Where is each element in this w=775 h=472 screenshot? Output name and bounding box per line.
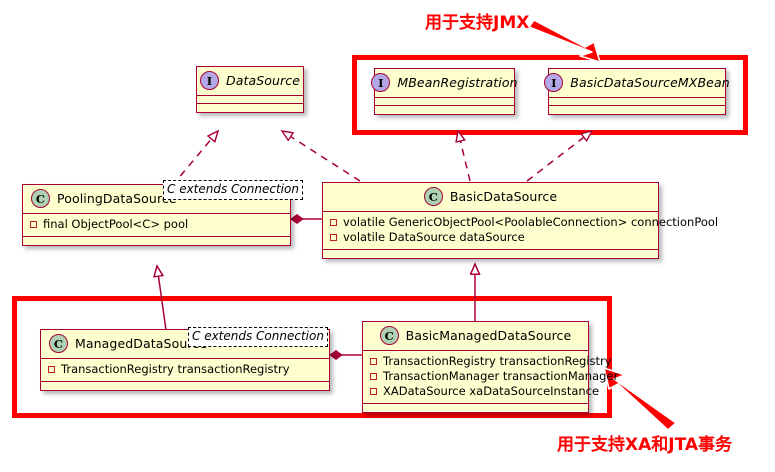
interface-icon: I: [544, 73, 563, 92]
class-box-basicdatasource[interactable]: C BasicDataSource volatile GenericObject…: [322, 182, 659, 259]
field-row: volatile GenericObjectPool<PoolableConne…: [330, 215, 651, 230]
class-icon: C: [49, 334, 68, 353]
datasource-fields: [197, 96, 303, 104]
field-row: TransactionManager transactionManager: [370, 369, 581, 384]
private-visibility-icon: [370, 388, 377, 395]
private-visibility-icon: [370, 373, 377, 380]
field-row: XADataSource xaDataSourceInstance: [370, 384, 581, 399]
basicdatasource-methods: [323, 250, 658, 258]
interface-icon: I: [371, 73, 390, 92]
mbeanregistration-name: MBeanRegistration: [397, 75, 517, 90]
basicmanageddatasource-fields: TransactionRegistry transactionRegistry …: [363, 351, 588, 404]
xa-jta-annotation-text: 用于支持XA和JTA事务: [557, 430, 732, 455]
field-row: TransactionRegistry transactionRegistry: [370, 354, 581, 369]
field-label: TransactionRegistry transactionRegistry: [61, 362, 290, 377]
manageddatasource-methods: [41, 382, 329, 390]
field-label: TransactionManager transactionManager: [383, 369, 618, 384]
basicmanageddatasource-methods: [363, 404, 588, 412]
field-row: final ObjectPool<C> pool: [30, 217, 283, 232]
generic-param-manageddatasource: C extends Connection: [188, 327, 328, 347]
generic-param-poolingdatasource: C extends Connection: [163, 180, 303, 200]
private-visibility-icon: [370, 358, 377, 365]
basicdatasource-fields: volatile GenericObjectPool<PoolableConne…: [323, 212, 658, 250]
poolingdatasource-methods: [23, 237, 290, 245]
class-icon: C: [424, 187, 443, 206]
private-visibility-icon: [48, 366, 55, 373]
basicmanageddatasource-header: C BasicManagedDataSource: [363, 322, 588, 351]
datasource-name: DataSource: [226, 73, 300, 88]
datasource-header: I DataSource: [197, 67, 303, 96]
private-visibility-icon: [30, 221, 37, 228]
poolingdatasource-fields: final ObjectPool<C> pool: [23, 214, 290, 237]
basicdatasource-name: BasicDataSource: [450, 189, 557, 204]
mbeanregistration-header: I MBeanRegistration: [375, 69, 514, 98]
field-label: TransactionRegistry transactionRegistry: [383, 354, 612, 369]
mbeanregistration-methods: [375, 106, 514, 114]
basicdatasourcemxbean-header: I BasicDataSourceMXBean: [549, 69, 725, 98]
relation-basicdatasource-mbeanregistration: [458, 131, 470, 181]
poolingdatasource-name: PoolingDataSource: [57, 191, 177, 206]
field-label: XADataSource xaDataSourceInstance: [383, 384, 599, 399]
basicdatasourcemxbean-methods: [549, 106, 725, 114]
private-visibility-icon: [330, 234, 337, 241]
mbeanregistration-fields: [375, 98, 514, 106]
class-box-mbeanregistration[interactable]: I MBeanRegistration: [374, 68, 515, 115]
field-label: volatile GenericObjectPool<PoolableConne…: [343, 215, 718, 230]
class-box-basicmanageddatasource[interactable]: C BasicManagedDataSource TransactionRegi…: [362, 321, 589, 413]
relation-basicdatasource-datasource: [282, 131, 360, 181]
jmx-annotation-text: 用于支持JMX: [425, 8, 529, 33]
field-row: TransactionRegistry transactionRegistry: [48, 362, 322, 377]
basicdatasource-header: C BasicDataSource: [323, 183, 658, 212]
basicdatasourcemxbean-fields: [549, 98, 725, 106]
basicdatasourcemxbean-name: BasicDataSourceMXBean: [570, 75, 729, 90]
field-row: volatile DataSource dataSource: [330, 230, 651, 245]
relation-basicdatasource-basicdatasourcemxbean: [527, 131, 592, 181]
uml-class-diagram: I DataSource I MBeanRegistration I Basic…: [0, 0, 775, 472]
manageddatasource-fields: TransactionRegistry transactionRegistry: [41, 359, 329, 382]
field-label: volatile DataSource dataSource: [343, 230, 525, 245]
class-box-basicdatasourcemxbean[interactable]: I BasicDataSourceMXBean: [548, 68, 726, 115]
basicmanageddatasource-name: BasicManagedDataSource: [406, 328, 572, 343]
private-visibility-icon: [330, 219, 337, 226]
class-icon: C: [380, 326, 399, 345]
class-box-datasource[interactable]: I DataSource: [196, 66, 304, 113]
relation-poolingdatasource-datasource: [172, 131, 218, 186]
datasource-methods: [197, 104, 303, 112]
field-label: final ObjectPool<C> pool: [43, 217, 188, 232]
class-icon: C: [31, 189, 50, 208]
interface-icon: I: [200, 71, 219, 90]
